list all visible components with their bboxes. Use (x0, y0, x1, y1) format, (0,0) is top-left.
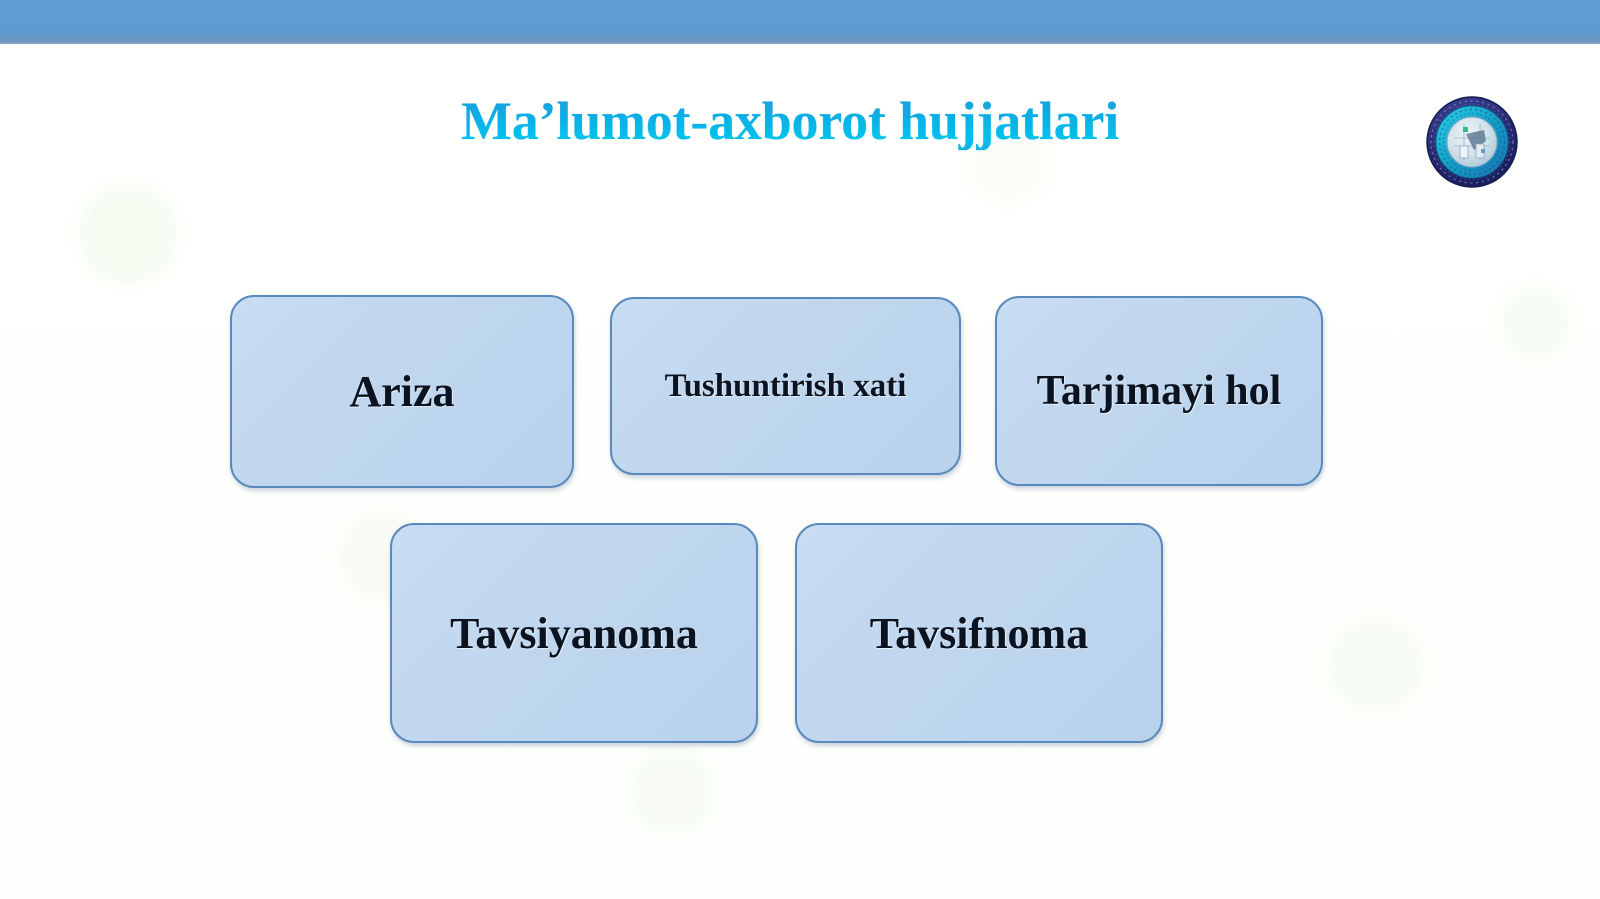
top-accent-bar-shadow (0, 41, 1600, 45)
box-tavsifnoma[interactable]: Tavsifnoma (795, 523, 1163, 743)
box-tavsiyanoma[interactable]: Tavsiyanoma (390, 523, 758, 743)
box-label-tushuntirish-xati: Tushuntirish xati (626, 368, 945, 405)
box-ariza[interactable]: Ariza (230, 295, 574, 488)
presentation-slide: Ma’lumot-axborot hujjatlari (0, 0, 1600, 899)
top-accent-bar (0, 0, 1600, 44)
box-label-tarjimayi-hol: Tarjimayi hol (1011, 367, 1307, 416)
uzbekistan-academy-emblem-icon (1424, 94, 1520, 190)
page-title: Ma’lumot-axborot hujjatlari (210, 93, 1370, 150)
box-label-tavsiyanoma: Tavsiyanoma (406, 608, 742, 659)
box-label-ariza: Ariza (246, 366, 558, 417)
box-tarjimayi-hol[interactable]: Tarjimayi hol (995, 296, 1323, 486)
box-label-tavsifnoma: Tavsifnoma (811, 608, 1147, 659)
box-tushuntirish-xati[interactable]: Tushuntirish xati (610, 297, 961, 475)
